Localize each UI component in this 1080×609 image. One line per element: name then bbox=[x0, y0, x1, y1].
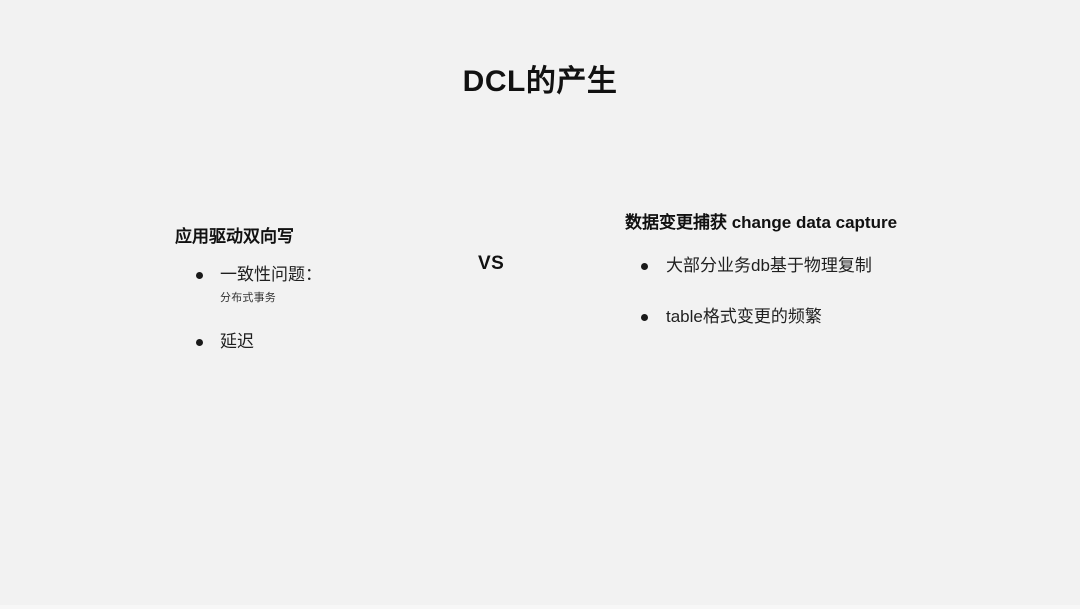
bullet-text: 一致性问题： bbox=[220, 263, 435, 288]
bullet-list-left: 一致性问题： 分布式事务 延迟 bbox=[175, 263, 435, 355]
column-application-driven-bidirectional-write: 应用驱动双向写 一致性问题： 分布式事务 延迟 bbox=[175, 226, 435, 355]
bullet-dot-icon bbox=[641, 263, 648, 270]
bullet-text: table格式变更的频繁 bbox=[666, 305, 1025, 330]
bullet-dot-icon bbox=[196, 339, 203, 346]
bullet-list-right: 大部分业务db基于物理复制 table格式变更的频繁 bbox=[625, 254, 1025, 329]
versus-label: VS bbox=[478, 254, 504, 273]
slide-canvas: DCL的产生 应用驱动双向写 一致性问题： 分布式事务 延迟 VS 数据变更捕获… bbox=[0, 0, 1080, 609]
bottom-edge-strip bbox=[0, 605, 1080, 609]
bullet-text: 延迟 bbox=[220, 330, 435, 355]
list-item: 一致性问题： 分布式事务 bbox=[175, 263, 435, 306]
list-item: table格式变更的频繁 bbox=[625, 305, 1025, 330]
list-item: 大部分业务db基于物理复制 bbox=[625, 254, 1025, 279]
bullet-dot-icon bbox=[196, 272, 203, 279]
column-heading-right: 数据变更捕获 change data capture bbox=[625, 212, 1025, 235]
bullet-dot-icon bbox=[641, 314, 648, 321]
page-title: DCL的产生 bbox=[0, 64, 1080, 100]
column-change-data-capture: 数据变更捕获 change data capture 大部分业务db基于物理复制… bbox=[625, 212, 1025, 329]
list-item: 延迟 bbox=[175, 330, 435, 355]
bullet-subtext: 分布式事务 bbox=[220, 290, 435, 307]
column-heading-left: 应用驱动双向写 bbox=[175, 226, 435, 249]
bullet-text: 大部分业务db基于物理复制 bbox=[666, 254, 1025, 279]
